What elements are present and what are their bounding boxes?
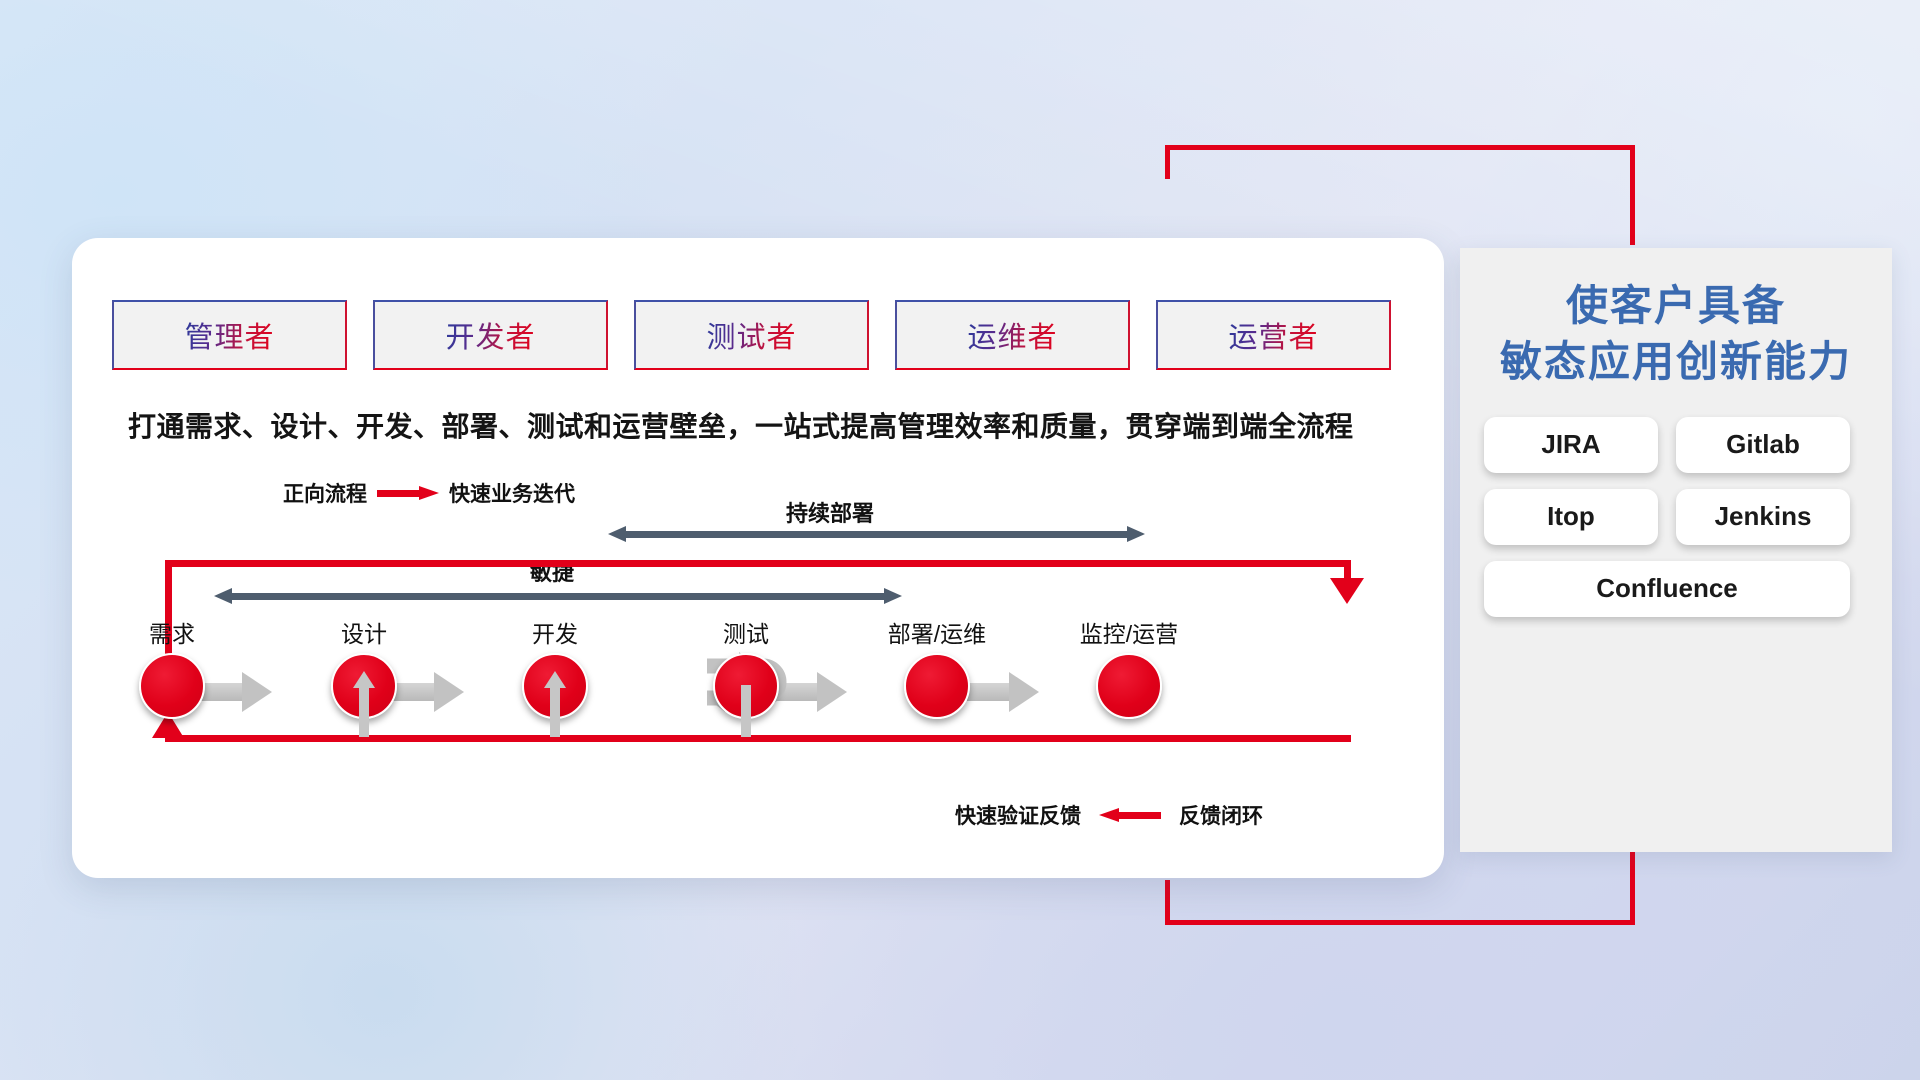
stage-label: 开发 — [495, 615, 615, 649]
stage-dot — [139, 653, 205, 719]
stage-testing[interactable]: 测试 — [686, 615, 806, 719]
outer-bracket-top — [1165, 145, 1635, 150]
feedback-loop-bottom — [165, 735, 1351, 742]
role-label: 运维者 — [967, 314, 1057, 356]
role-box-tester[interactable]: 测试者 — [634, 300, 869, 370]
stage-development[interactable]: 开发 — [495, 615, 615, 719]
outer-bracket-right-bottom — [1630, 845, 1635, 925]
legend-forward-from-label: 正向流程 — [283, 478, 367, 508]
arrow-left-red-icon — [1099, 808, 1161, 822]
outer-bracket-right-top — [1630, 145, 1635, 245]
stage-label: 部署/运维 — [877, 615, 997, 649]
right-panel-title-line2: 敏态应用创新能力 — [1460, 334, 1892, 390]
legend-forward-to-label: 快速业务迭代 — [449, 478, 575, 508]
double-arrow-continuous-deployment-icon — [608, 526, 1145, 542]
feedback-loop-top — [165, 560, 1351, 567]
headline-text: 打通需求、设计、开发、部署、测试和运营壁垒，一站式提高管理效率和质量，贯穿端到端… — [128, 405, 1428, 445]
stage-label: 测试 — [686, 615, 806, 649]
legend-forward-flow: 正向流程 快速业务迭代 — [283, 478, 575, 508]
outer-bracket-left-top — [1165, 145, 1170, 179]
stage-monitor-operations[interactable]: 监控/运营 — [1069, 615, 1189, 719]
tool-chip-confluence[interactable]: Confluence — [1484, 561, 1850, 617]
pipeline-stages: 需求 设计 开发 测试 部署/运维 监控/运营 — [112, 615, 1412, 735]
role-box-developer[interactable]: 开发者 — [373, 300, 608, 370]
tool-chip-jira[interactable]: JIRA — [1484, 417, 1658, 473]
tool-chip-list: JIRA Gitlab Itop Jenkins Confluence — [1484, 417, 1868, 617]
role-box-operations[interactable]: 运营者 — [1156, 300, 1391, 370]
stage-label: 监控/运营 — [1069, 615, 1189, 649]
tool-chip-gitlab[interactable]: Gitlab — [1676, 417, 1850, 473]
legend-feedback-to-label: 反馈闭环 — [1179, 800, 1263, 830]
right-panel-title-line1: 使客户具备 — [1460, 278, 1892, 334]
role-box-row: 管理者 开发者 测试者 运维者 运营者 — [112, 300, 1391, 370]
role-label: 运营者 — [1228, 314, 1318, 356]
stage-dot — [904, 653, 970, 719]
outer-bracket-left-bottom — [1165, 880, 1170, 925]
right-panel: 使客户具备 敏态应用创新能力 JIRA Gitlab Itop Jenkins … — [1460, 248, 1892, 852]
role-label: 开发者 — [445, 314, 535, 356]
stage-label: 设计 — [304, 615, 424, 649]
stage-requirement[interactable]: 需求 — [112, 615, 232, 719]
tool-chip-jenkins[interactable]: Jenkins — [1676, 489, 1850, 545]
tool-chip-itop[interactable]: Itop — [1484, 489, 1658, 545]
legend-feedback-from-label: 快速验证反馈 — [955, 800, 1081, 830]
stem-arrow-icon — [544, 671, 566, 688]
role-box-manager[interactable]: 管理者 — [112, 300, 347, 370]
right-panel-title: 使客户具备 敏态应用创新能力 — [1460, 248, 1892, 391]
stage-label: 需求 — [112, 615, 232, 649]
outer-bracket-bottom — [1165, 920, 1635, 925]
stage-deploy-ops[interactable]: 部署/运维 — [877, 615, 997, 719]
stage-design[interactable]: 设计 — [304, 615, 424, 719]
stage-stem — [741, 685, 751, 737]
continuous-deployment-label: 持续部署 — [786, 496, 874, 528]
stage-dot — [1096, 653, 1162, 719]
double-arrow-agile-icon — [214, 588, 902, 604]
legend-feedback-loop: 快速验证反馈 反馈闭环 — [955, 800, 1263, 830]
role-label: 测试者 — [706, 314, 796, 356]
role-label: 管理者 — [184, 314, 274, 356]
stage-stem — [550, 685, 560, 737]
arrow-right-red-icon — [377, 486, 439, 500]
arrow-down-red-icon — [1330, 578, 1364, 604]
stage-stem — [359, 685, 369, 737]
stem-arrow-icon — [353, 671, 375, 688]
role-box-ops[interactable]: 运维者 — [895, 300, 1130, 370]
